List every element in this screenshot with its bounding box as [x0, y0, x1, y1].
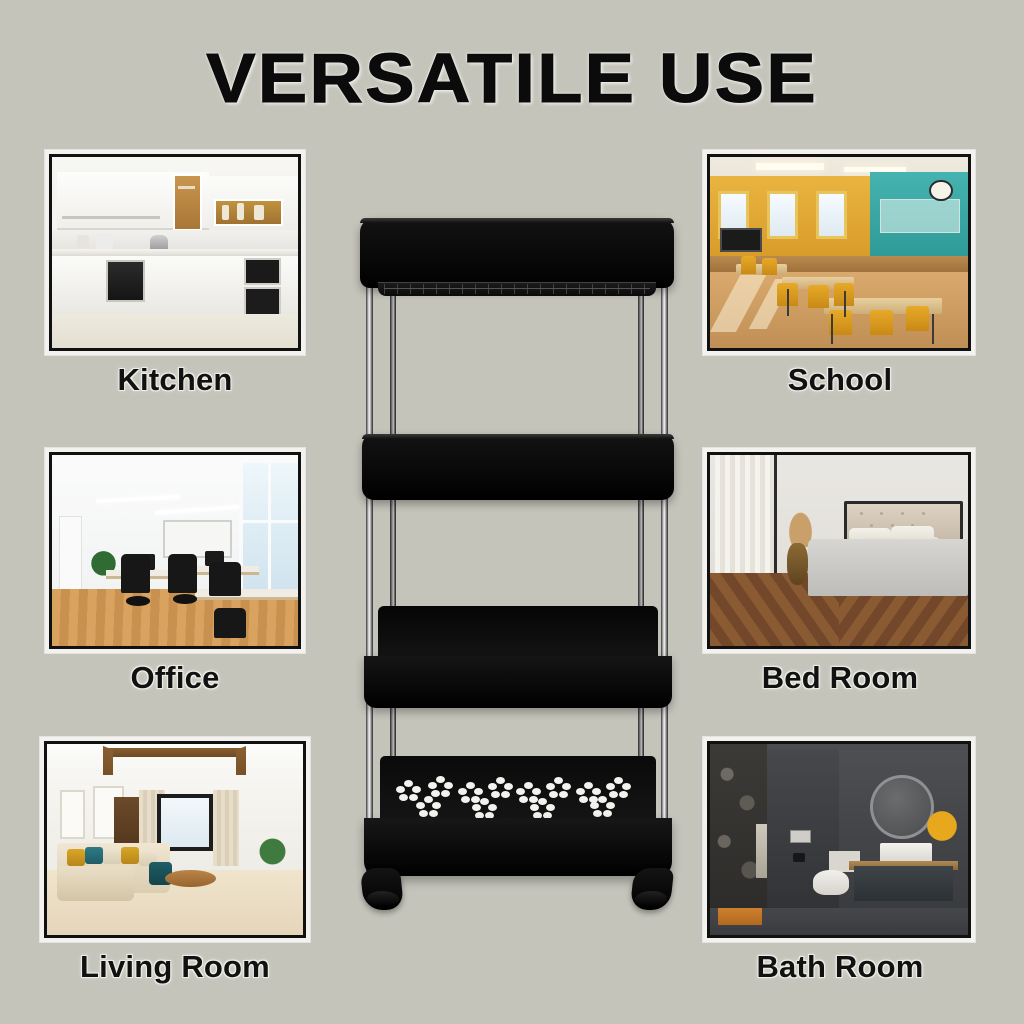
cart-basket-tier-3 — [364, 606, 672, 696]
photo-inner-school — [707, 154, 971, 351]
photo-frame-livingroom — [40, 737, 310, 942]
caption-kitchen: Kitchen — [25, 362, 325, 398]
scene-kitchen — [52, 157, 298, 348]
photo-inner-livingroom — [44, 741, 306, 938]
cart-basket-tier-2 — [362, 434, 674, 500]
photo-frame-kitchen — [45, 150, 305, 355]
scene-bathroom — [710, 744, 968, 935]
photo-frame-bathroom — [703, 737, 975, 942]
caption-bedroom: Bed Room — [685, 660, 995, 696]
product-rolling-cart — [352, 196, 682, 906]
poster-canvas: VERSATILE USE — [0, 0, 1024, 1024]
scene-office — [52, 455, 298, 646]
caption-school: School — [690, 362, 990, 398]
page-title: VERSATILE USE — [0, 38, 1024, 118]
photo-inner-office — [49, 452, 301, 649]
cart-basket-tier-4 — [364, 756, 672, 876]
cart-wheel-front-right — [630, 868, 674, 910]
cart-basket-tier-1-mesh — [378, 282, 656, 296]
caption-bathroom: Bath Room — [685, 949, 995, 985]
photo-inner-bedroom — [707, 452, 971, 649]
scene-bedroom — [710, 455, 968, 646]
caption-livingroom: Living Room — [10, 949, 340, 985]
photo-frame-school — [703, 150, 975, 355]
caption-office: Office — [25, 660, 325, 696]
photo-inner-bathroom — [707, 741, 971, 938]
scene-livingroom — [47, 744, 303, 935]
photo-frame-bedroom — [703, 448, 975, 653]
cart-wheel-front-left — [360, 868, 404, 910]
photo-inner-kitchen — [49, 154, 301, 351]
scene-school — [710, 157, 968, 348]
photo-frame-office — [45, 448, 305, 653]
cart-basket-tier-1 — [360, 218, 674, 288]
